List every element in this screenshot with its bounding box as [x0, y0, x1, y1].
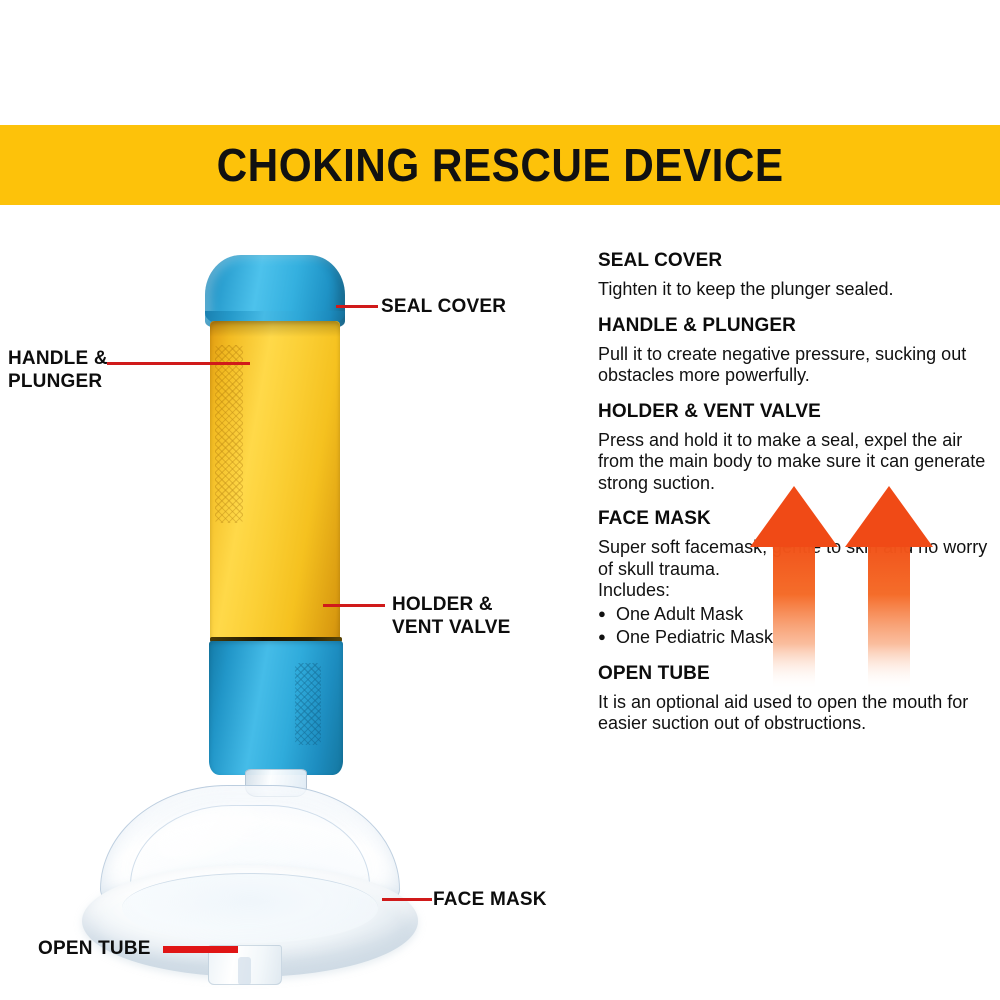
section-heading-seal-cover: SEAL COVER	[598, 250, 990, 272]
callout-line-handle-plunger	[107, 362, 250, 365]
body-top-shadow	[210, 321, 340, 337]
title-banner: CHOKING RESCUE DEVICE	[0, 125, 1000, 205]
callout-line-open-tube	[163, 946, 238, 953]
section-body-face-mask: Super soft facemask, gentle to skin and …	[598, 537, 990, 580]
description-column: SEAL COVER Tighten it to keep the plunge…	[598, 250, 990, 749]
infographic-page: CHOKING RESCUE DEVICE SEAL COVER HANDLE …	[0, 0, 1000, 1000]
section-heading-handle-plunger: HANDLE & PLUNGER	[598, 315, 990, 337]
face-mask-rim-opening	[122, 873, 378, 943]
handle-grip-texture	[215, 345, 243, 523]
callout-line-seal-cover	[336, 305, 378, 308]
open-tube-notch	[238, 957, 251, 985]
section-seal-cover: SEAL COVER Tighten it to keep the plunge…	[598, 250, 990, 301]
callout-line-holder-vent-valve	[323, 604, 385, 607]
list-item: One Pediatric Mask	[598, 626, 990, 649]
section-open-tube: OPEN TUBE It is an optional aid used to …	[598, 663, 990, 735]
section-includes-label: Includes:	[598, 580, 990, 602]
callout-line-face-mask	[382, 898, 432, 901]
section-body-open-tube: It is an optional aid used to open the m…	[598, 692, 990, 735]
section-body-handle-plunger: Pull it to create negative pressure, suc…	[598, 344, 990, 387]
face-mask-includes-list: One Adult Mask One Pediatric Mask	[598, 603, 990, 649]
section-heading-holder-vent-valve: HOLDER & VENT VALVE	[598, 401, 990, 423]
callout-label-face-mask: FACE MASK	[433, 888, 547, 911]
list-item: One Adult Mask	[598, 603, 990, 626]
callout-label-seal-cover: SEAL COVER	[381, 295, 506, 318]
section-face-mask: FACE MASK Super soft facemask, gentle to…	[598, 508, 990, 649]
section-handle-plunger: HANDLE & PLUNGER Pull it to create negat…	[598, 315, 990, 387]
section-body-seal-cover: Tighten it to keep the plunger sealed.	[598, 279, 990, 301]
callout-label-holder-vent-valve: HOLDER & VENT VALVE	[392, 593, 510, 639]
holder-vent-valve-body-shape	[209, 641, 343, 775]
section-heading-face-mask: FACE MASK	[598, 508, 990, 530]
callout-label-open-tube: OPEN TUBE	[38, 937, 151, 960]
section-body-holder-vent-valve: Press and hold it to make a seal, expel …	[598, 430, 990, 495]
vent-valve-grip-texture	[295, 663, 321, 745]
page-title: CHOKING RESCUE DEVICE	[217, 138, 784, 192]
callout-label-handle-plunger: HANDLE & PLUNGER	[8, 347, 108, 393]
section-holder-vent-valve: HOLDER & VENT VALVE Press and hold it to…	[598, 401, 990, 495]
section-heading-open-tube: OPEN TUBE	[598, 663, 990, 685]
